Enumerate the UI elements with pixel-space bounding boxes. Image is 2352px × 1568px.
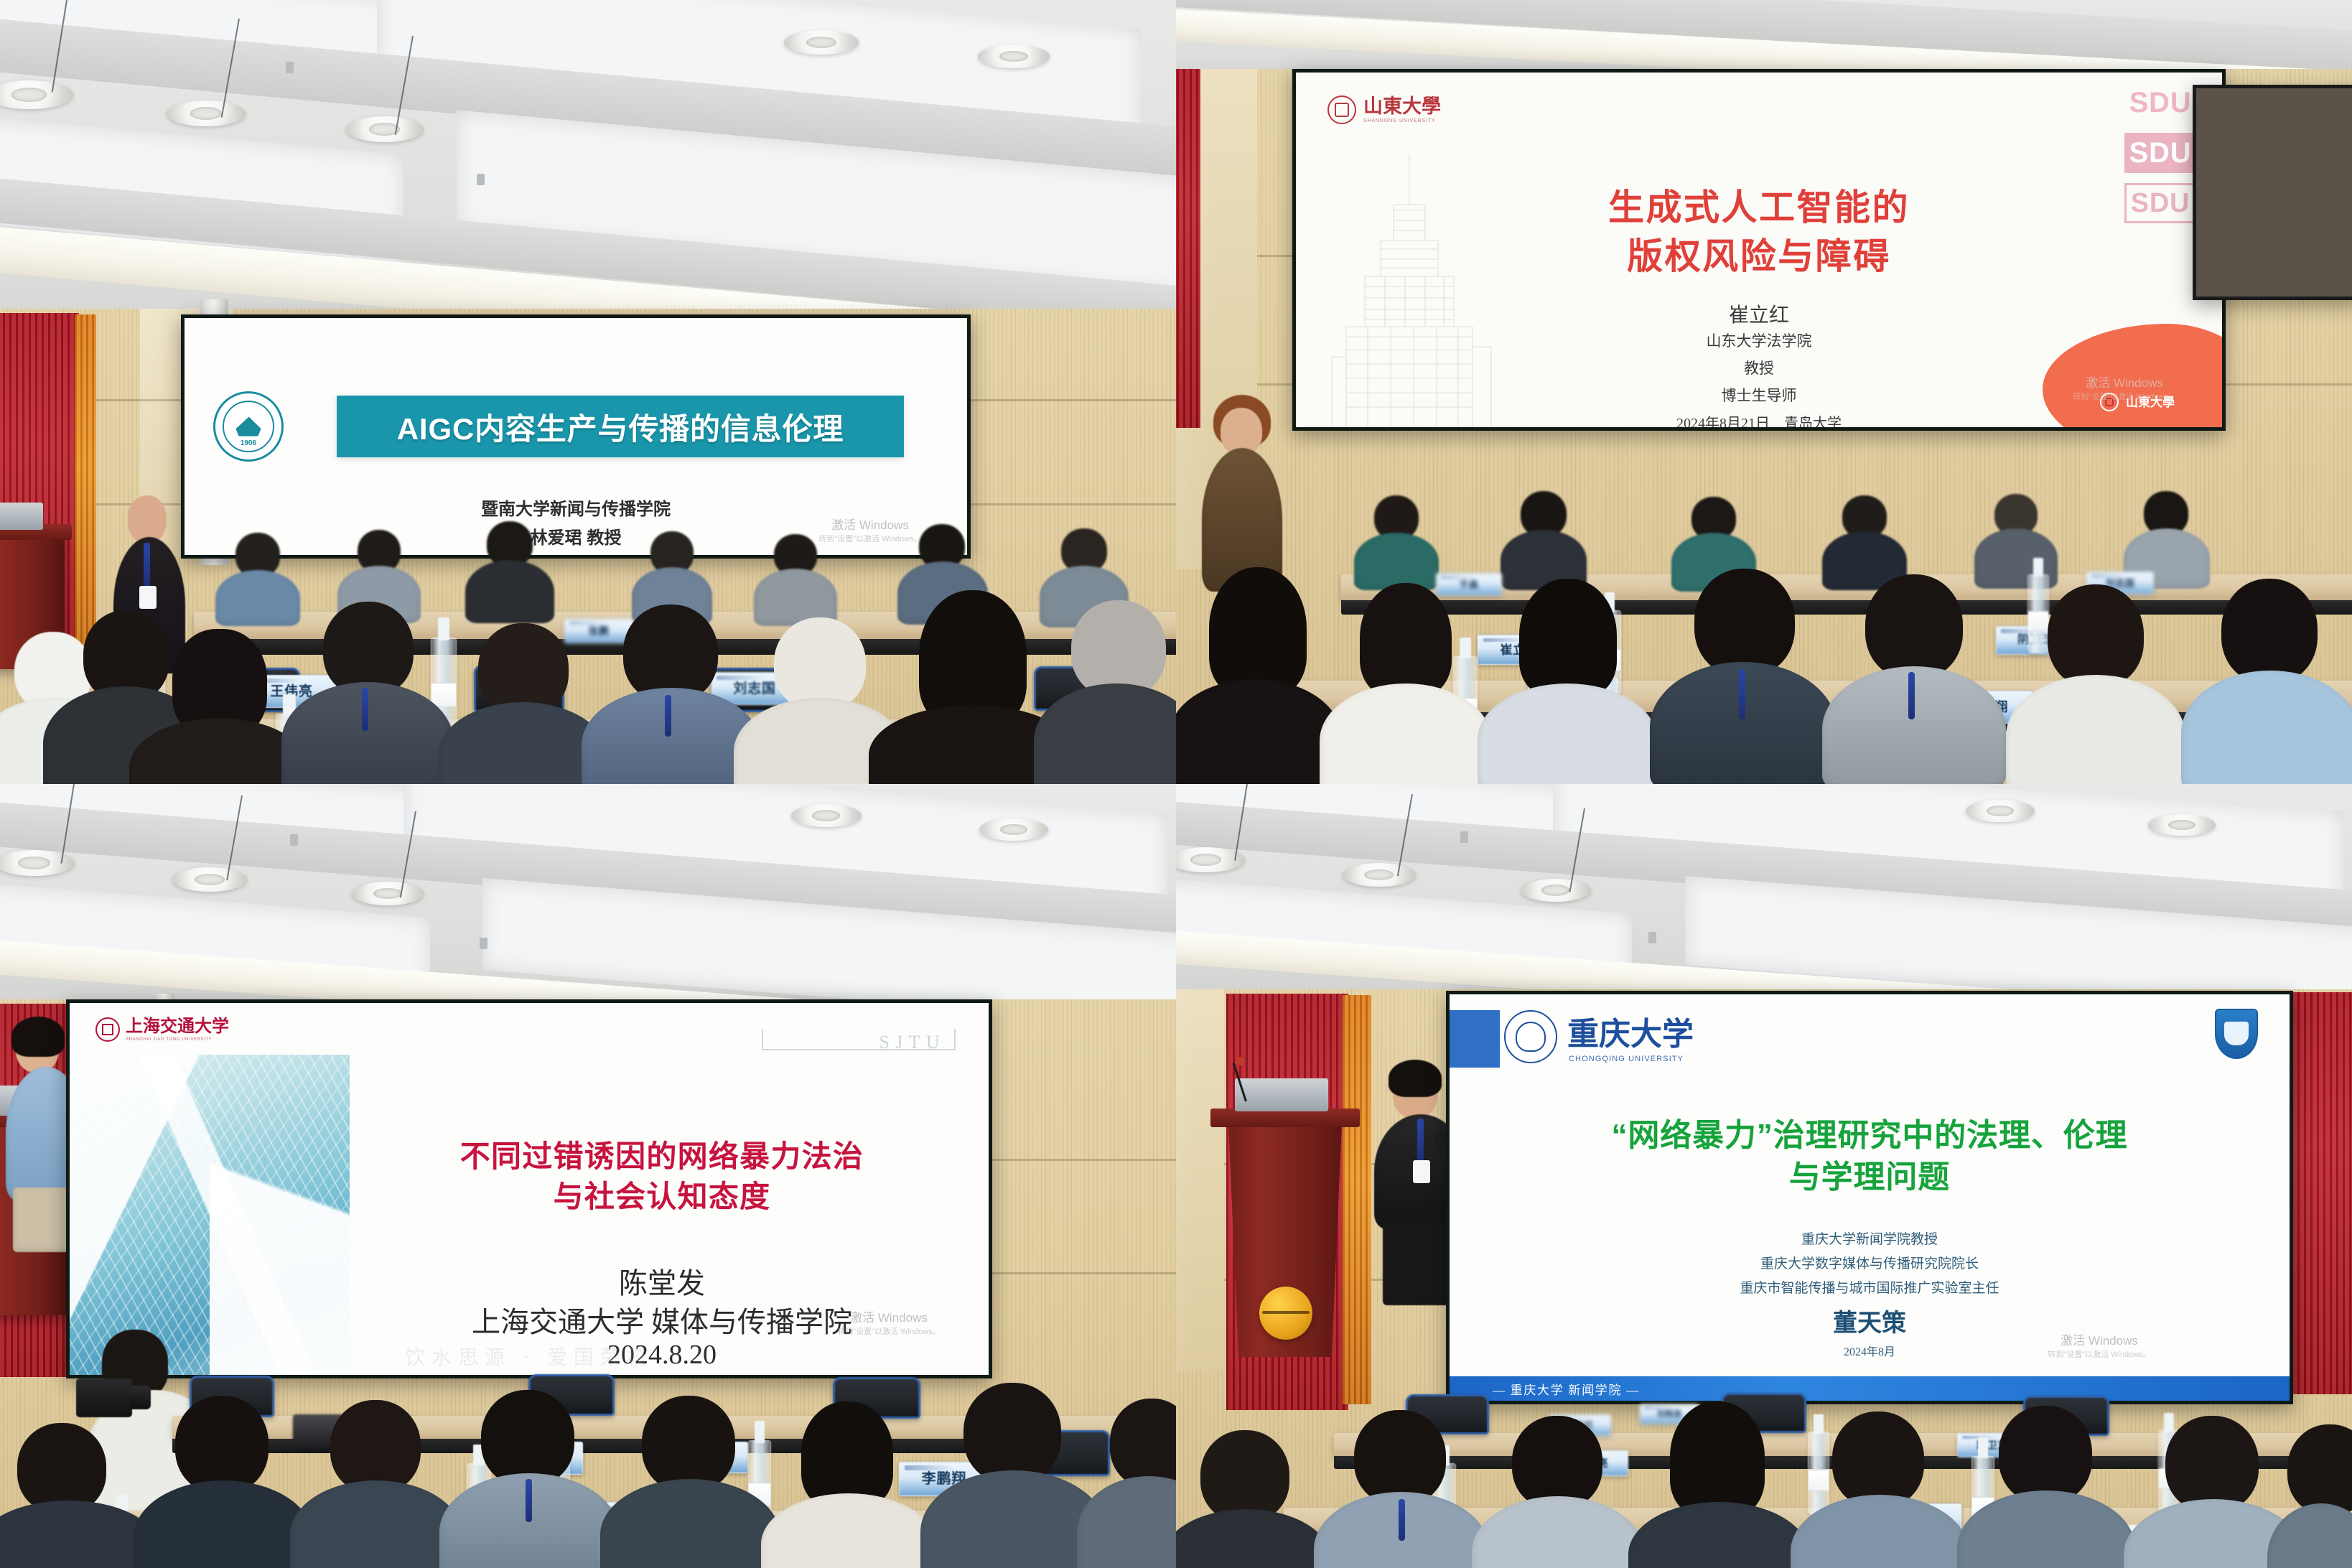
shandong-university-logo: 山東大學 SHANDONG UNIVERSITY	[1327, 95, 1441, 124]
university-name: 上海交通大学	[126, 1018, 229, 1035]
person-head	[1832, 1411, 1924, 1508]
seal-year: 1906	[224, 439, 273, 447]
sjtu-seal-icon	[95, 1017, 120, 1042]
audience-person-foreground	[134, 1396, 313, 1568]
collage-panel-bottom-right: 重庆大学 CHONGQING UNIVERSITY “网络暴力”治理研究中的法理…	[1176, 784, 2352, 1568]
person-head	[1865, 574, 1963, 679]
audience-person-foreground	[1077, 1399, 1176, 1568]
ceiling-downlight	[784, 30, 859, 55]
ceiling-downlight	[167, 101, 246, 126]
person-body	[1791, 1495, 1969, 1568]
journalism-school-crest-icon	[2215, 1009, 2258, 1059]
university-name: 山東大學	[1363, 97, 1441, 116]
projection-screen: 重庆大学 CHONGQING UNIVERSITY “网络暴力”治理研究中的法理…	[1450, 994, 2290, 1401]
slide-shandong-university: 山東大學 SHANDONG UNIVERSITY SDU SDU SDU 生成式…	[1296, 73, 2222, 427]
lanyard	[1399, 1499, 1405, 1541]
watermark-line-1: 激活 Windows	[806, 1310, 971, 1327]
person-head	[1209, 567, 1307, 695]
person-head	[1354, 1410, 1446, 1505]
person-body	[2267, 1503, 2352, 1568]
side-monitor-screen	[2196, 88, 2352, 297]
speaker-badge	[139, 586, 157, 609]
audience-person	[465, 521, 554, 619]
person-head	[963, 1383, 1061, 1483]
ceiling-downlight	[172, 867, 247, 892]
slide-title: AIGC内容生产与传播的信息伦理	[397, 405, 844, 449]
audience-person-foreground	[1472, 1416, 1644, 1568]
speaker-hair	[11, 1017, 65, 1057]
wall-panel	[1176, 989, 1224, 1371]
windows-activation-watermark: 激活 Windows 转到"设置"以激活 Windows。	[806, 1310, 971, 1338]
sprinkler-head	[290, 834, 298, 846]
watermark-line-1: 激活 Windows	[2017, 1333, 2182, 1350]
footer-banner-text: — 重庆大学 新闻学院 —	[1493, 1380, 1640, 1398]
ceiling-downlight	[1343, 863, 1416, 887]
person-head	[1512, 1416, 1602, 1509]
speaker-head	[128, 495, 167, 543]
slide-presenter: 崔立红	[1296, 299, 2222, 328]
person-head	[774, 617, 866, 711]
ceiling	[0, 784, 1176, 1014]
audience-person-foreground	[1176, 567, 1341, 784]
university-english-name: SHANDONG UNIVERSITY	[1363, 118, 1441, 123]
speaker-lanyard	[144, 543, 150, 587]
audience-person-foreground	[2181, 579, 2352, 784]
slide-presenter: 陈堂发	[357, 1260, 967, 1302]
person-body	[1034, 683, 1176, 784]
collage-panel-bottom-left: 上海交通大学 SHANGHAI JIAO TONG UNIVERSITY SJT…	[0, 784, 1176, 1568]
projection-screen: 上海交通大学 SHANGHAI JIAO TONG UNIVERSITY SJT…	[70, 1003, 989, 1375]
person-head	[1110, 1399, 1176, 1488]
person-body	[1472, 1496, 1644, 1568]
ceiling	[1176, 0, 2352, 79]
seal-ring: 1906	[223, 401, 274, 452]
person-body	[761, 1493, 936, 1568]
person-head	[1519, 579, 1617, 696]
university-english-name: SHANGHAI JIAO TONG UNIVERSITY	[126, 1037, 229, 1042]
sprinkler-head	[1460, 831, 1468, 843]
person-head	[1360, 583, 1452, 696]
seal-boat-emblem	[235, 416, 261, 436]
audience-person-foreground	[1320, 583, 1492, 784]
conference-room-bottom-left: 上海交通大学 SHANGHAI JIAO TONG UNIVERSITY SJT…	[0, 784, 1176, 1568]
person-body	[134, 1480, 313, 1568]
side-monitor-frame	[2193, 85, 2352, 300]
ceiling-downlight	[352, 882, 424, 905]
audience-person-foreground	[1791, 1411, 1969, 1568]
handheld-microphone	[1434, 1131, 1446, 1149]
sprinkler-head	[1648, 932, 1656, 943]
person-head	[330, 1400, 421, 1493]
slide-sjtu: 上海交通大学 SHANGHAI JIAO TONG UNIVERSITY SJT…	[70, 1003, 989, 1375]
person-body	[290, 1480, 462, 1568]
speaker-hair	[1389, 1060, 1442, 1097]
person-body	[2181, 671, 2352, 784]
slide-accent-block	[1450, 1010, 1500, 1068]
slide-title-line-2: 与学理问题	[1450, 1151, 2290, 1197]
slide-footer-banner: — 重庆大学 新闻学院 —	[1450, 1376, 2290, 1401]
slide-title-line-2: 与社会认知态度	[357, 1172, 967, 1216]
person-body	[600, 1479, 780, 1568]
person-head	[17, 1423, 106, 1513]
lanyard	[1908, 672, 1915, 719]
slide-jinan-university: 1906 AIGC内容生产与传播的信息伦理 暨南大学新闻与传播学院 林爱珺 教授…	[185, 318, 967, 555]
audience-person-foreground	[1314, 1410, 1489, 1568]
photo-collage: 1906 AIGC内容生产与传播的信息伦理 暨南大学新闻与传播学院 林爱珺 教授…	[0, 0, 2352, 1568]
person-body	[465, 560, 554, 623]
jinan-university-seal-icon: 1906	[213, 391, 284, 462]
projection-screen-frame: 山東大學 SHANDONG UNIVERSITY SDU SDU SDU 生成式…	[1292, 69, 2226, 431]
sprinkler-head	[480, 938, 487, 949]
projection-screen-frame: 1906 AIGC内容生产与传播的信息伦理 暨南大学新闻与传播学院 林爱珺 教授…	[181, 314, 971, 559]
stage-curtain-red	[2285, 992, 2352, 1394]
person-head	[2165, 1416, 2259, 1512]
audience-person-foreground	[290, 1400, 462, 1568]
lanyard	[526, 1479, 532, 1522]
ceiling	[1176, 784, 2352, 999]
slide-chongqing-university: 重庆大学 CHONGQING UNIVERSITY “网络暴力”治理研究中的法理…	[1450, 994, 2290, 1401]
audience-person	[754, 534, 837, 620]
audience-person	[1354, 495, 1439, 583]
audience-person-foreground	[281, 602, 454, 784]
person-body	[1176, 1509, 1331, 1568]
audience-person-foreground	[1957, 1406, 2135, 1568]
audience-person-foreground	[1628, 1401, 1809, 1568]
person-body	[1957, 1490, 2135, 1568]
audience-person	[1501, 491, 1587, 584]
chongqing-university-seal-icon	[1504, 1010, 1557, 1063]
stage-curtain-orange	[75, 314, 96, 650]
windows-activation-watermark: 激活 Windows 转到"设置"以激活 Windows。	[2038, 375, 2211, 403]
person-head	[642, 1396, 735, 1492]
slide-affiliation: 暨南大学新闻与传播学院	[185, 495, 967, 520]
podium-laptop	[1235, 1078, 1328, 1111]
podium-laptop	[0, 503, 43, 530]
slide-photo	[70, 1055, 350, 1375]
sdu-badge-2: SDU	[2124, 133, 2196, 173]
projection-screen-frame: 重庆大学 CHONGQING UNIVERSITY “网络暴力”治理研究中的法理…	[1446, 991, 2293, 1404]
ceiling-downlight	[1966, 800, 2035, 822]
watermark-line-2: 转到"设置"以激活 Windows。	[806, 1327, 971, 1338]
stage-curtain-red	[1176, 69, 1200, 428]
audience-person-foreground	[2006, 584, 2185, 784]
person-body	[1077, 1476, 1176, 1568]
person-body	[1320, 683, 1492, 784]
lanyard	[665, 695, 671, 737]
audience-person	[2124, 491, 2210, 584]
slide-credential-2: 重庆大学数字媒体与传播研究院院长	[1450, 1253, 2290, 1272]
audience-person-foreground	[1822, 574, 2006, 784]
camera	[76, 1378, 132, 1417]
ceiling-downlight	[346, 116, 424, 142]
audience-person-foreground	[1176, 1430, 1331, 1568]
projection-screen-frame: 上海交通大学 SHANGHAI JIAO TONG UNIVERSITY SJT…	[66, 999, 992, 1378]
person-head	[175, 1396, 269, 1493]
person-head	[481, 1390, 574, 1486]
audience-person	[1974, 494, 2058, 584]
lanyard	[362, 688, 368, 731]
person-head	[801, 1401, 893, 1508]
person-head	[2287, 1424, 2352, 1515]
audience-person-foreground	[600, 1396, 780, 1568]
watermark-line-1: 激活 Windows	[2038, 375, 2211, 392]
person-head	[478, 623, 569, 715]
university-english-name: CHONGQING UNIVERSITY	[1569, 1055, 1684, 1063]
sprinkler-head	[477, 174, 485, 185]
slide-title-line-1: 生成式人工智能的	[1296, 179, 2222, 230]
slide-credential-1: 重庆大学新闻学院教授	[1450, 1228, 2290, 1248]
microphone-head	[1236, 1057, 1245, 1065]
audience-person-foreground	[439, 1390, 619, 1568]
person-body	[1628, 1502, 1809, 1568]
speaker-person	[1198, 399, 1287, 593]
ceiling-downlight	[979, 818, 1048, 841]
collage-panel-top-right: 山東大學 SHANDONG UNIVERSITY SDU SDU SDU 生成式…	[1176, 0, 2352, 784]
person-head	[1999, 1406, 2092, 1503]
projection-screen: 1906 AIGC内容生产与传播的信息伦理 暨南大学新闻与传播学院 林爱珺 教授…	[185, 318, 967, 555]
ceiling-downlight	[791, 804, 862, 827]
audience-person-foreground	[1034, 600, 1176, 784]
sprinkler-head	[286, 62, 294, 73]
person-head	[1694, 569, 1795, 676]
sjtu-logo: 上海交通大学 SHANGHAI JIAO TONG UNIVERSITY	[95, 1017, 229, 1042]
audience-person-foreground	[761, 1401, 936, 1568]
person-head	[1200, 1430, 1289, 1522]
audience-person-foreground	[2267, 1424, 2352, 1568]
speaker-badge	[1413, 1160, 1430, 1183]
ceiling-downlight	[1521, 879, 1591, 902]
slide-title-line-2: 版权风险与障碍	[1296, 228, 2222, 279]
person-body	[2006, 675, 2185, 784]
conference-room-top-right: 山東大學 SHANDONG UNIVERSITY SDU SDU SDU 生成式…	[1176, 0, 2352, 784]
slide-title-line-1: “网络暴力”治理研究中的法理、伦理	[1450, 1109, 2290, 1155]
person-head	[2048, 584, 2144, 688]
university-name: 重庆大学	[1567, 1019, 1694, 1050]
projection-screen: 山東大學 SHANDONG UNIVERSITY SDU SDU SDU 生成式…	[1296, 73, 2222, 427]
person-head	[1670, 1401, 1765, 1516]
windows-activation-watermark: 激活 Windows 转到"设置"以激活 Windows。	[2017, 1333, 2182, 1361]
collage-panel-top-left: 1906 AIGC内容生产与传播的信息伦理 暨南大学新闻与传播学院 林爱珺 教授…	[0, 0, 1176, 784]
audience-person-foreground	[1650, 569, 1837, 784]
shandong-university-seal-icon	[1327, 95, 1356, 124]
watermark-line-2: 转到"设置"以激活 Windows。	[2017, 1350, 2182, 1361]
conference-room-bottom-right: 重庆大学 CHONGQING UNIVERSITY “网络暴力”治理研究中的法理…	[1176, 784, 2352, 1568]
person-body	[1354, 533, 1439, 590]
conference-room-top-left: 1906 AIGC内容生产与传播的信息伦理 暨南大学新闻与传播学院 林爱珺 教授…	[0, 0, 1176, 784]
sketch-line	[762, 1029, 956, 1050]
ceiling-downlight	[2148, 814, 2216, 836]
ceiling-downlight	[0, 80, 73, 109]
stage-curtain-orange	[1343, 995, 1371, 1404]
slide-credential-3: 重庆市智能传播与城市国际推广实验室主任	[1450, 1277, 2290, 1297]
lanyard	[1739, 669, 1745, 719]
person-body	[1176, 679, 1341, 784]
slide-title-bar: AIGC内容生产与传播的信息伦理	[337, 396, 904, 457]
watermark-line-2: 转到"设置"以激活 Windows。	[2038, 392, 2211, 403]
ceiling-downlight	[978, 45, 1050, 68]
audience-person-foreground	[1478, 579, 1657, 784]
sdu-badge-1: SDU	[2124, 83, 2196, 123]
basketball	[1259, 1287, 1312, 1340]
person-head	[2221, 579, 2318, 683]
slide-title-line-1: 不同过错诱因的网络暴力法治	[357, 1132, 967, 1176]
speaker-lanyard	[1417, 1119, 1424, 1162]
person-body	[1478, 683, 1657, 784]
